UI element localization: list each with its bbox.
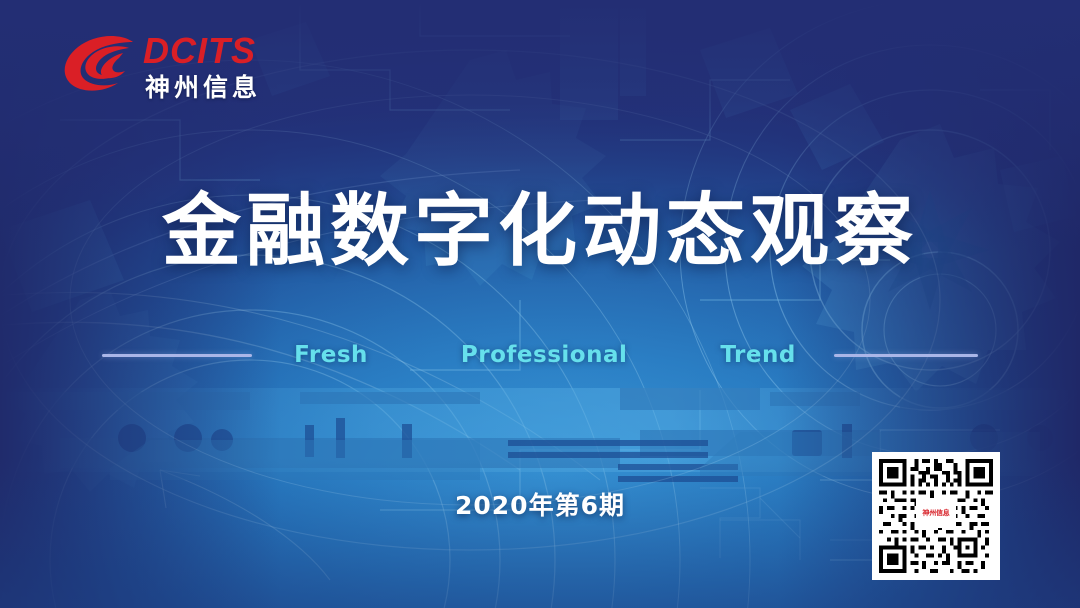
divider-right — [834, 354, 978, 357]
poster-canvas: DCITS 神州信息 金融数字化动态观察 Fresh Professional … — [0, 0, 1080, 608]
qr-center-logo: 神州信息 — [916, 498, 956, 528]
divider-left — [102, 354, 252, 357]
page-title: 金融数字化动态观察 — [0, 186, 1080, 278]
tagline-professional: Professional — [461, 342, 627, 368]
dcits-swirl-icon — [63, 33, 137, 99]
brand-logo: DCITS 神州信息 — [63, 31, 278, 109]
qr-center-logo-text: 神州信息 — [922, 510, 949, 517]
brand-chinese-name: 神州信息 — [145, 75, 261, 100]
tagline-fresh: Fresh — [294, 342, 368, 368]
tagline-trend: Trend — [720, 342, 795, 368]
brand-wordmark: DCITS — [143, 33, 256, 69]
wechat-qr-code[interactable]: 神州信息 — [872, 452, 1000, 580]
tagline-row: Fresh Professional Trend — [0, 336, 1080, 374]
